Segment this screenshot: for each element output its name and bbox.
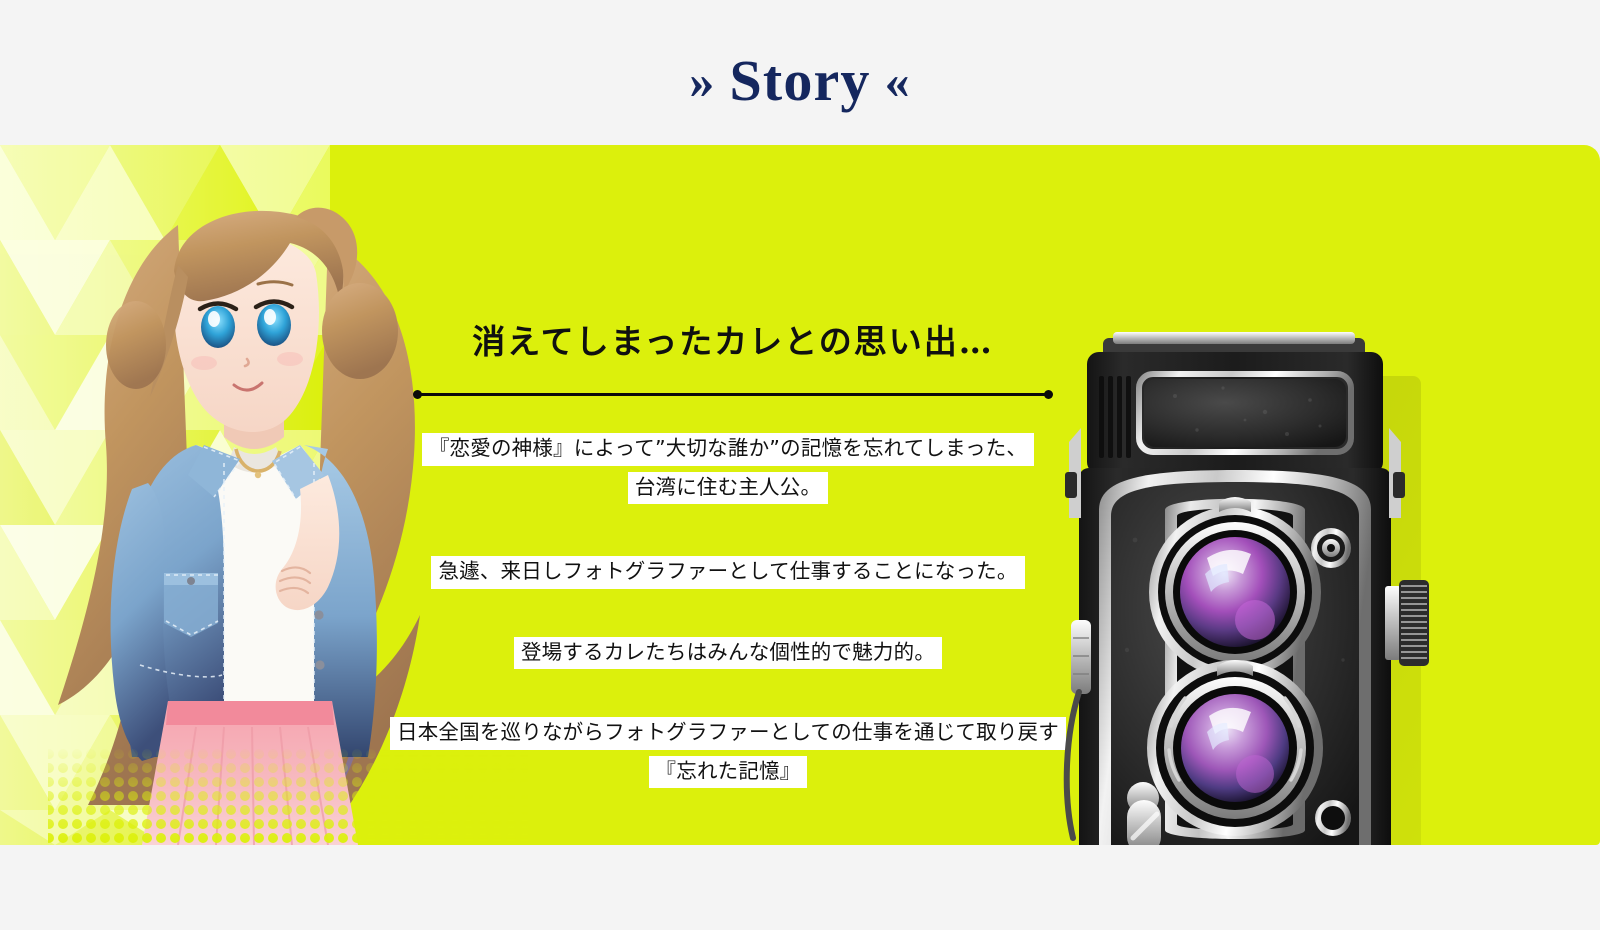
story-text-block: 『恋愛の神様』によって”大切な誰か”の記憶を忘れてしまった、 台湾に住む主人公。… bbox=[300, 433, 1156, 794]
heading-divider bbox=[413, 390, 1053, 398]
story-line: 日本全国を巡りながらフォトグラファーとしての仕事を通じて取り戻す bbox=[300, 717, 1156, 750]
story-line: 登場するカレたちはみんな個性的で魅力的。 bbox=[300, 637, 1156, 670]
twin-lens-reflex-camera bbox=[1055, 330, 1455, 845]
page-title: »Story« bbox=[0, 52, 1600, 110]
story-section: »Story« bbox=[0, 0, 1600, 930]
story-line: 『忘れた記憶』 bbox=[300, 756, 1156, 789]
divider-bar bbox=[417, 393, 1049, 396]
story-line-text: 日本全国を巡りながらフォトグラファーとしての仕事を通じて取り戻す bbox=[390, 717, 1066, 750]
story-line-text: 急遽、来日しフォトグラファーとして仕事することになった。 bbox=[431, 556, 1024, 589]
story-line-text: 『忘れた記憶』 bbox=[649, 756, 808, 789]
story-panel: 消えてしまったカレとの思い出… 『恋愛の神様』によって”大切な誰か”の記憶を忘れ… bbox=[0, 145, 1600, 845]
spacer bbox=[300, 675, 1156, 717]
spacer bbox=[300, 510, 1156, 556]
story-line: 台湾に住む主人公。 bbox=[300, 472, 1156, 505]
spacer bbox=[300, 595, 1156, 637]
story-line-text: 台湾に住む主人公。 bbox=[628, 472, 828, 505]
chevron-right-icon: « bbox=[871, 53, 925, 109]
divider-dot-right bbox=[1044, 390, 1053, 399]
story-line-text: 登場するカレたちはみんな個性的で魅力的。 bbox=[514, 637, 942, 670]
page-title-text: Story bbox=[729, 48, 870, 113]
story-line: 急遽、来日しフォトグラファーとして仕事することになった。 bbox=[300, 556, 1156, 589]
chevron-left-icon: » bbox=[675, 53, 729, 109]
story-line: 『恋愛の神様』によって”大切な誰か”の記憶を忘れてしまった、 bbox=[300, 433, 1156, 466]
section-heading: 消えてしまったカレとの思い出… bbox=[410, 315, 1056, 363]
story-line-text: 『恋愛の神様』によって”大切な誰か”の記憶を忘れてしまった、 bbox=[422, 433, 1034, 466]
